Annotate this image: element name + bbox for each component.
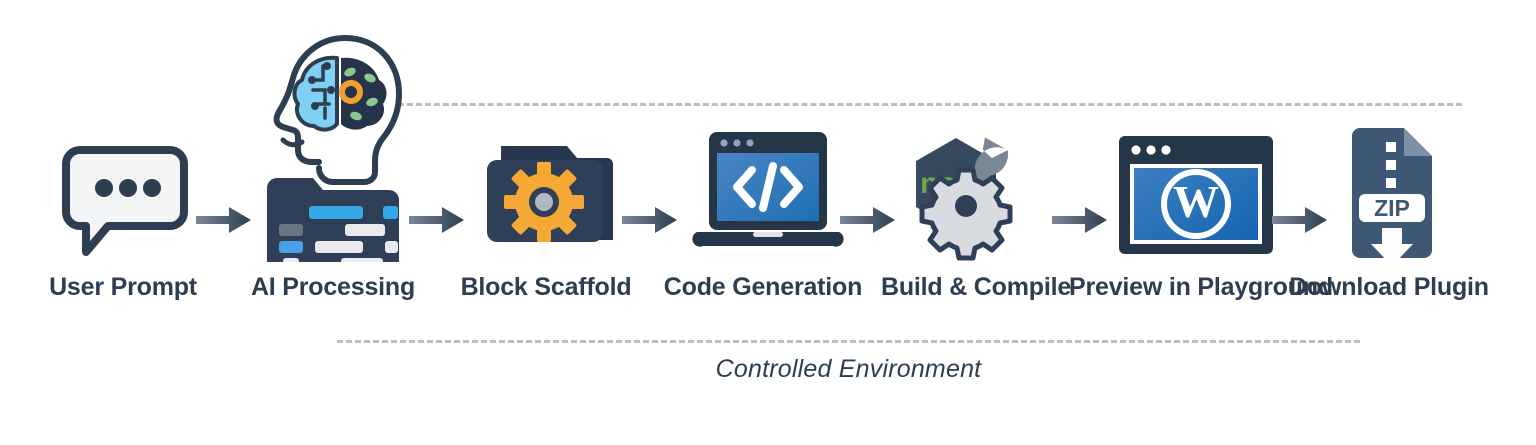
zip-file-download-icon: ZIP [1309, 32, 1469, 262]
laptop-code-icon [683, 32, 843, 262]
flow-arrow [196, 203, 252, 237]
flow-arrow [409, 203, 465, 237]
diagram-canvas: Controlled Environment User Prompt [0, 0, 1536, 445]
controlled-environment-bottom-boundary [337, 340, 1360, 343]
step-ai-processing: AI Processing [253, 30, 413, 320]
flow-arrow [1052, 203, 1108, 237]
step-label: AI Processing [213, 273, 453, 302]
folder-gear-icon [466, 32, 626, 262]
data-folder [267, 178, 399, 262]
head-outline [277, 38, 399, 182]
wordpress-logo-letter: W [1173, 176, 1219, 227]
step-user-prompt: User Prompt [43, 30, 203, 320]
controlled-environment-caption: Controlled Environment [337, 355, 1360, 384]
step-label: Download Plugin [1269, 273, 1509, 302]
nodejs-wrench-gear-icon: node [896, 32, 1056, 262]
step-label: Block Scaffold [426, 273, 666, 302]
flow-arrow [622, 203, 678, 237]
flow-arrow [840, 203, 896, 237]
browser-wordpress-icon: W [1109, 32, 1269, 262]
zip-label-text: ZIP [1374, 195, 1410, 221]
step-block-scaffold: Block Scaffold [466, 30, 626, 320]
ai-brain-head-folder-icon [253, 32, 413, 262]
step-label: Code Generation [643, 273, 883, 302]
step-build-compile: node Build & Compile [896, 30, 1056, 320]
step-label: User Prompt [3, 273, 243, 302]
step-preview-playground: W Preview in Playground [1109, 30, 1269, 320]
step-download-plugin: ZIP Download Plugin [1309, 30, 1469, 320]
step-label: Build & Compile [856, 273, 1096, 302]
step-code-generation: Code Generation [683, 30, 843, 320]
speech-bubble-icon [43, 32, 203, 262]
